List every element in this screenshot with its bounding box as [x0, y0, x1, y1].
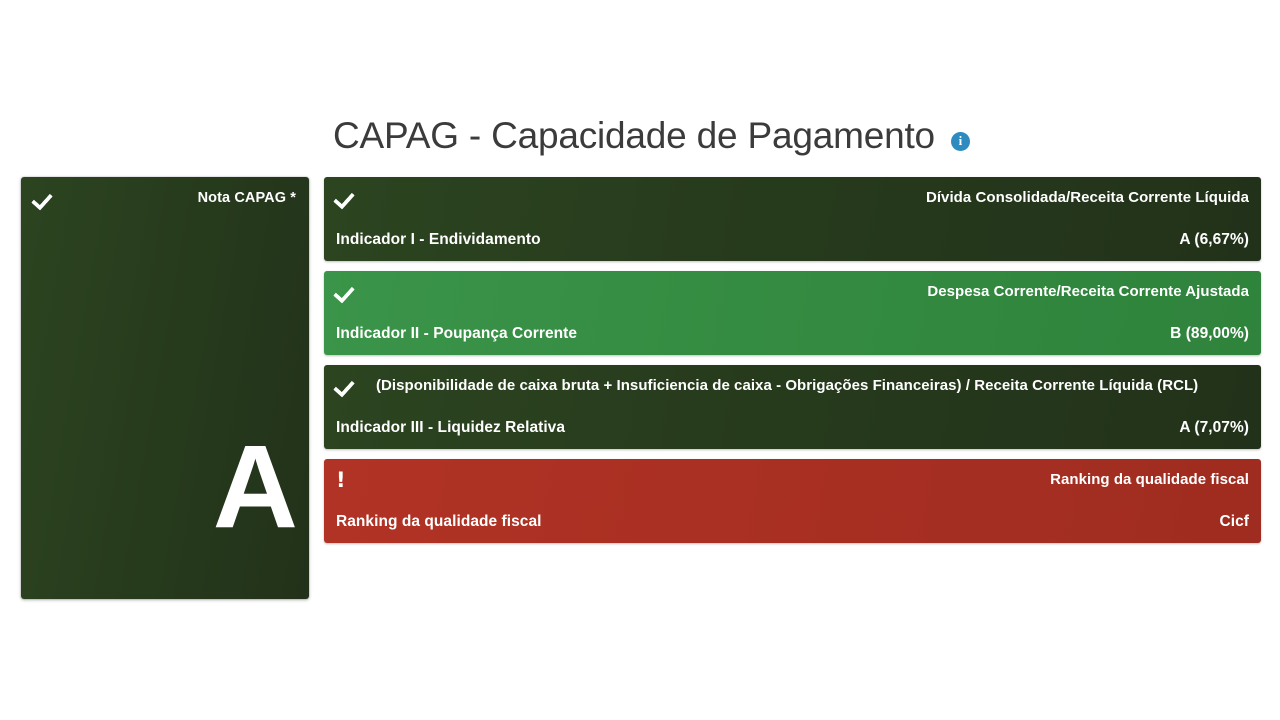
indicator-formula-row: Despesa Corrente/Receita Corrente Ajusta… [336, 282, 1249, 304]
check-icon [336, 188, 358, 206]
indicator-row[interactable]: (Disponibilidade de caixa bruta + Insufi… [324, 365, 1261, 449]
indicator-name: Ranking da qualidade fiscal [336, 513, 541, 531]
indicator-summary-row: Indicador II - Poupança Corrente B (89,0… [336, 325, 1249, 343]
indicator-formula-row: (Disponibilidade de caixa bruta + Insufi… [336, 376, 1249, 398]
nota-capag-header: Nota CAPAG * [21, 177, 309, 207]
indicator-formula: Dívida Consolidada/Receita Corrente Líqu… [372, 188, 1249, 208]
nota-capag-label: Nota CAPAG * [198, 190, 296, 206]
indicator-grade: Cicf [1220, 513, 1249, 531]
info-icon-glyph: i [959, 134, 963, 147]
indicator-formula: Despesa Corrente/Receita Corrente Ajusta… [372, 282, 1249, 302]
capag-panel: CAPAG - Capacidade de Pagamento i Nota C… [0, 0, 1280, 720]
indicator-summary-row: Ranking da qualidade fiscal Cicf [336, 513, 1249, 531]
indicator-row[interactable]: Despesa Corrente/Receita Corrente Ajusta… [324, 271, 1261, 355]
info-circle-icon[interactable]: i [951, 132, 970, 151]
indicator-list: Dívida Consolidada/Receita Corrente Líqu… [324, 177, 1261, 553]
check-icon [336, 282, 358, 300]
indicator-summary-row: Indicador I - Endividamento A (6,67%) [336, 231, 1249, 249]
indicator-formula: Ranking da qualidade fiscal [372, 470, 1249, 490]
page-title: CAPAG - Capacidade de Pagamento [333, 117, 935, 154]
check-icon [336, 376, 358, 394]
exclamation-icon: ! [336, 470, 358, 490]
indicator-grade: B (89,00%) [1170, 325, 1249, 343]
indicator-summary-row: Indicador III - Liquidez Relativa A (7,0… [336, 419, 1249, 437]
indicator-row[interactable]: ! Ranking da qualidade fiscal Ranking da… [324, 459, 1261, 543]
indicator-grade: A (7,07%) [1179, 419, 1249, 437]
nota-capag-value: A [213, 439, 297, 536]
indicator-name: Indicador I - Endividamento [336, 231, 541, 249]
indicator-formula-row: ! Ranking da qualidade fiscal [336, 470, 1249, 492]
check-icon [34, 189, 56, 207]
indicator-row[interactable]: Dívida Consolidada/Receita Corrente Líqu… [324, 177, 1261, 261]
nota-capag-card[interactable]: Nota CAPAG * A [21, 177, 309, 599]
indicator-formula-row: Dívida Consolidada/Receita Corrente Líqu… [336, 188, 1249, 210]
indicator-name: Indicador II - Poupança Corrente [336, 325, 577, 343]
page-header: CAPAG - Capacidade de Pagamento i [333, 110, 970, 160]
indicator-formula: (Disponibilidade de caixa bruta + Insufi… [376, 376, 1249, 396]
indicator-grade: A (6,67%) [1179, 231, 1249, 249]
indicator-name: Indicador III - Liquidez Relativa [336, 419, 565, 437]
